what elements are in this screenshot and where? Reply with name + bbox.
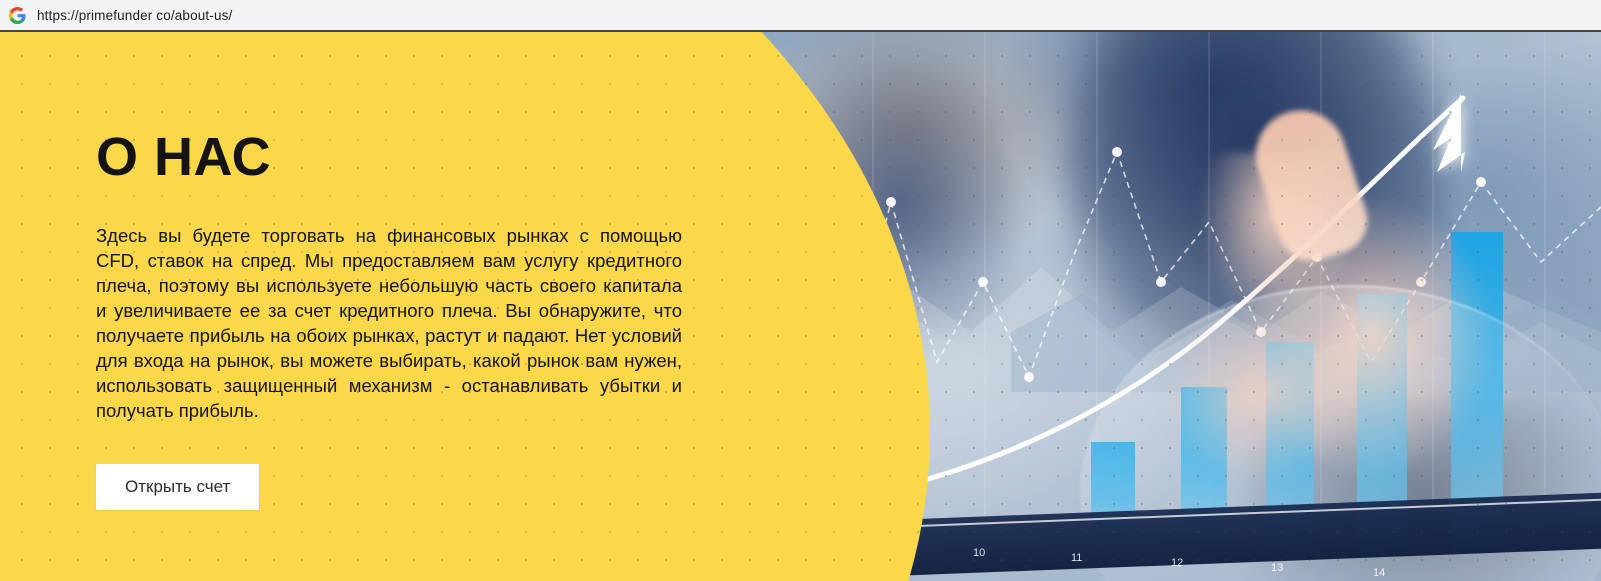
axis-tick: 10 — [973, 547, 985, 559]
hero-copy: О НАС Здесь вы будете торговать на финан… — [96, 130, 696, 510]
axis-tick: 14 — [1373, 567, 1385, 579]
hero-paragraph: Здесь вы будете торговать на финансовых … — [96, 223, 682, 423]
page-title: О НАС — [96, 130, 696, 184]
google-g-icon — [9, 7, 26, 24]
hero-section: 9 10 11 12 13 14 О НАС Здесь вы будете т… — [0, 32, 1601, 581]
axis-tick: 12 — [1171, 557, 1183, 569]
address-bar-url: https://primefunder co/about-us/ — [37, 8, 232, 23]
axis-tick: 11 — [1071, 552, 1082, 564]
axis-tick: 13 — [1271, 562, 1283, 574]
address-bar[interactable]: https://primefunder co/about-us/ — [0, 1, 1596, 30]
open-account-button[interactable]: Открыть счет — [96, 464, 259, 510]
browser-chrome: https://primefunder co/about-us/ — [0, 0, 1601, 31]
